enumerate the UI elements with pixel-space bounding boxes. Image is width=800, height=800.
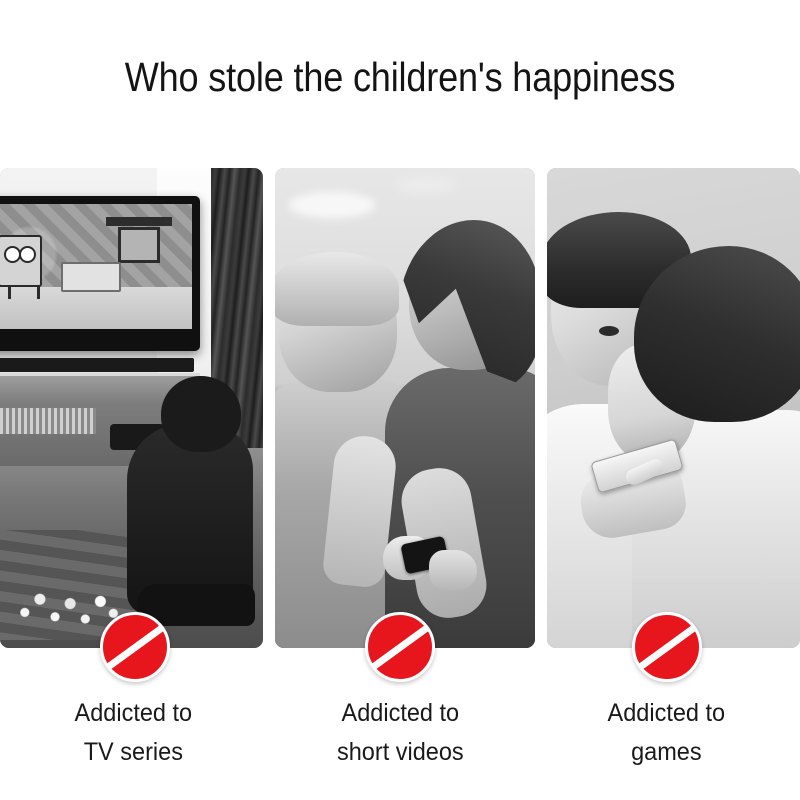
caption-row: Addicted to TV series Addicted to short … bbox=[0, 694, 800, 794]
child-legs bbox=[137, 584, 255, 626]
cartoon-character-icon bbox=[0, 235, 42, 287]
photo-short-videos bbox=[275, 168, 535, 648]
photo-panel-games bbox=[547, 168, 800, 648]
photo-panel-tv-series bbox=[0, 168, 263, 648]
photo-games bbox=[547, 168, 800, 648]
cartoon-picture-frame bbox=[118, 227, 160, 263]
poster-root: Who stole the children's happiness bbox=[0, 0, 800, 800]
caption-short-videos: Addicted to short videos bbox=[275, 694, 526, 794]
cartoon-bench bbox=[61, 262, 121, 292]
cloud bbox=[289, 192, 375, 218]
caption-games: Addicted to games bbox=[541, 694, 792, 794]
photo-tv-series bbox=[0, 168, 263, 648]
photo-panel-short-videos bbox=[275, 168, 535, 648]
caption-line-1: Addicted to bbox=[275, 694, 526, 733]
puzzle-pieces bbox=[14, 586, 122, 630]
cartoon-character-legs bbox=[8, 285, 40, 299]
child-head bbox=[161, 376, 241, 452]
boy-left-eye bbox=[599, 326, 619, 336]
photo-panel-row bbox=[0, 168, 800, 648]
hand-right bbox=[429, 550, 477, 590]
caption-tv-series: Addicted to TV series bbox=[8, 694, 259, 794]
page-title: Who stole the children's happiness bbox=[48, 52, 752, 102]
caption-line-2: games bbox=[541, 733, 792, 772]
cartoon-shelf bbox=[106, 217, 172, 226]
caption-line-2: TV series bbox=[8, 733, 259, 772]
blonde-child-hair bbox=[275, 252, 399, 326]
tv-screen bbox=[0, 204, 192, 329]
tv-table-shelf bbox=[0, 408, 96, 434]
caption-line-1: Addicted to bbox=[541, 694, 792, 733]
television bbox=[0, 196, 200, 351]
caption-line-1: Addicted to bbox=[8, 694, 259, 733]
tv-stand bbox=[0, 358, 194, 372]
caption-line-2: short videos bbox=[275, 733, 526, 772]
cloud-secondary bbox=[395, 178, 455, 192]
